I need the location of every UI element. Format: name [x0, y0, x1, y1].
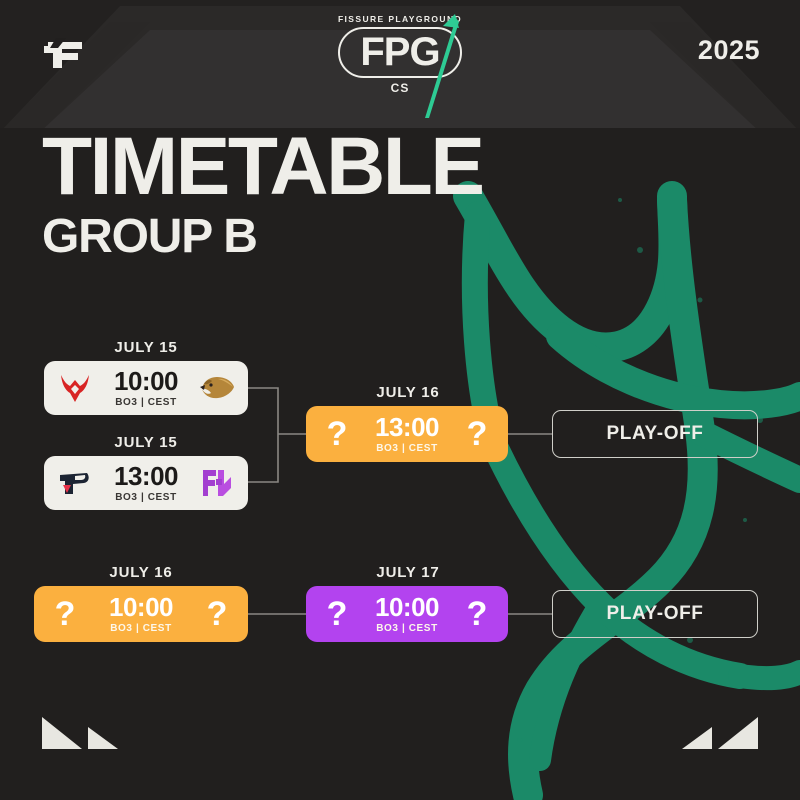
- match-time-m2: 13:00: [108, 463, 184, 489]
- match-time-m1: 10:00: [108, 368, 184, 394]
- match-meta-m1: BO3 | CEST: [108, 397, 184, 408]
- playoff-label: PLAY-OFF: [607, 603, 704, 625]
- match-meta-m5: BO3 | CEST: [370, 623, 444, 634]
- match-card-m1[interactable]: 10:00 BO3 | CEST: [44, 361, 248, 415]
- match-info-m4: 10:00 BO3 | CEST: [96, 594, 186, 634]
- team-slot-left-m5: ?: [306, 597, 368, 631]
- playoff-box-lower[interactable]: PLAY-OFF: [552, 590, 758, 638]
- team-logo-bear-head: [186, 373, 248, 403]
- match-card-m3[interactable]: ? 13:00 BO3 | CEST ?: [306, 406, 508, 462]
- match-date-m1: JULY 15: [44, 339, 248, 356]
- match-info-m5: 10:00 BO3 | CEST: [368, 594, 446, 634]
- match-meta-m3: BO3 | CEST: [370, 443, 444, 454]
- team-logo-purple-angular: [186, 466, 248, 500]
- team-slot-right-m3: ?: [446, 417, 508, 451]
- team-logo-pain-p: [44, 467, 106, 499]
- placeholder-question-icon: ?: [467, 597, 488, 631]
- match-card-m4[interactable]: ? 10:00 BO3 | CEST ?: [34, 586, 248, 642]
- match-time-m5: 10:00: [370, 594, 444, 620]
- match-date-m4: JULY 16: [34, 564, 248, 581]
- match-date-m5: JULY 17: [306, 564, 510, 581]
- team-slot-right-m4: ?: [186, 597, 248, 631]
- placeholder-question-icon: ?: [327, 597, 348, 631]
- match-card-m5[interactable]: ? 10:00 BO3 | CEST ?: [306, 586, 508, 642]
- match-info-m2: 13:00 BO3 | CEST: [106, 463, 186, 503]
- team-slot-left-m3: ?: [306, 417, 368, 451]
- bracket-container: JULY 15 JULY 15 JULY 16 JULY 16 JULY 17 …: [0, 0, 800, 800]
- corner-decoration-right: [674, 711, 758, 756]
- team-logo-demon-mask: [44, 371, 106, 405]
- match-date-m2: JULY 15: [44, 434, 248, 451]
- match-meta-m2: BO3 | CEST: [108, 492, 184, 503]
- match-card-m2[interactable]: 13:00 BO3 | CEST: [44, 456, 248, 510]
- placeholder-question-icon: ?: [207, 597, 228, 631]
- team-slot-left-m4: ?: [34, 597, 96, 631]
- playoff-label: PLAY-OFF: [607, 423, 704, 445]
- playoff-box-upper[interactable]: PLAY-OFF: [552, 410, 758, 458]
- match-info-m1: 10:00 BO3 | CEST: [106, 368, 186, 408]
- team-slot-right-m5: ?: [446, 597, 508, 631]
- match-date-m3: JULY 16: [306, 384, 510, 401]
- placeholder-question-icon: ?: [327, 417, 348, 451]
- placeholder-question-icon: ?: [55, 597, 76, 631]
- match-meta-m4: BO3 | CEST: [98, 623, 184, 634]
- match-info-m3: 13:00 BO3 | CEST: [368, 414, 446, 454]
- corner-decoration-left: [42, 711, 126, 756]
- placeholder-question-icon: ?: [467, 417, 488, 451]
- match-time-m4: 10:00: [98, 594, 184, 620]
- match-time-m3: 13:00: [370, 414, 444, 440]
